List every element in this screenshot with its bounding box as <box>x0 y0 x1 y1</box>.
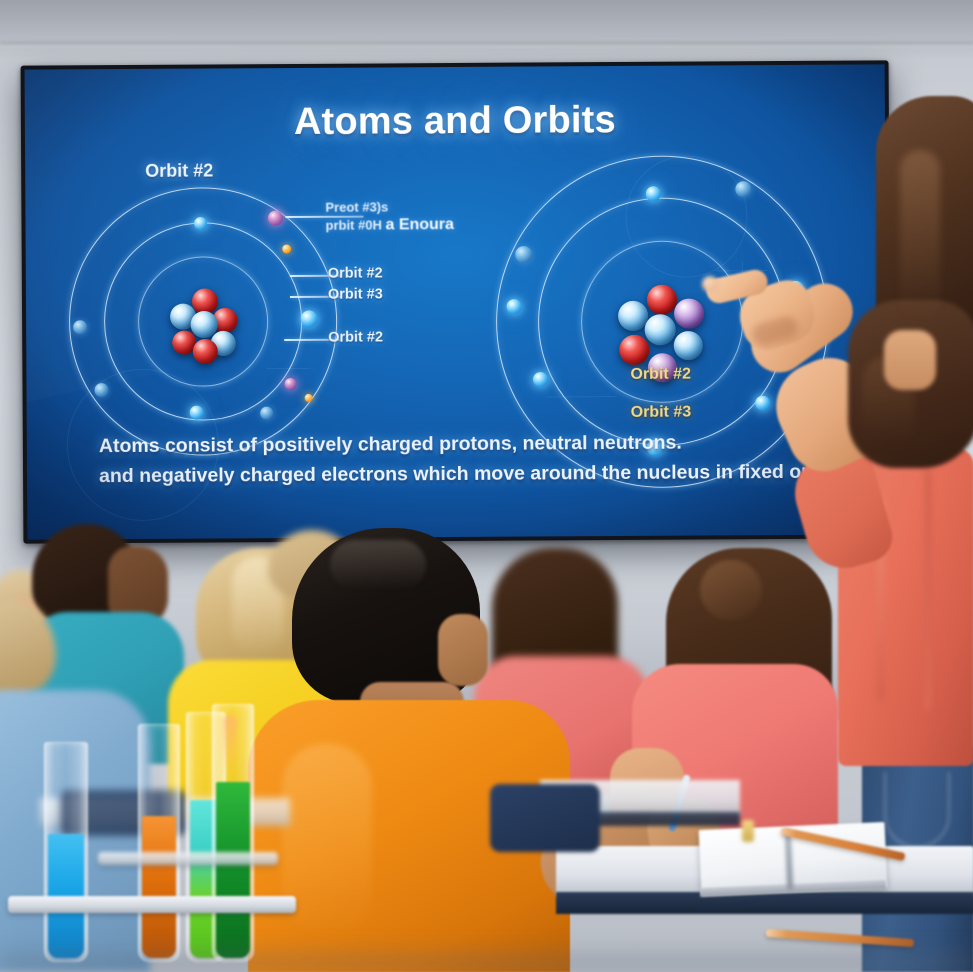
test-tube-green-reflection <box>223 715 237 773</box>
electron <box>284 378 296 390</box>
electron <box>735 181 751 197</box>
test-tube-blue[interactable] <box>44 742 88 962</box>
electron <box>515 246 532 263</box>
electron <box>94 383 108 397</box>
teacher-neck <box>884 330 936 390</box>
right-atom-label-orbit-2: Orbit #2 <box>630 366 691 384</box>
electron <box>73 320 87 334</box>
test-tube-green[interactable] <box>212 704 254 962</box>
wall-ceiling-shadow <box>0 0 973 60</box>
callout-label-orbit-2: Orbit #2 <box>328 265 383 281</box>
desk-front-right-edge <box>556 892 973 914</box>
chair-back <box>490 784 600 852</box>
electron <box>190 406 204 420</box>
student-orange-hair-highlight <box>330 540 426 590</box>
foreground-blur-overlay <box>0 940 973 972</box>
classroom-scene: Atoms and Orbits <box>0 0 973 972</box>
student-coral-curly-hair-highlight <box>700 560 762 620</box>
electron <box>268 211 283 226</box>
test-tube-orange-liquid <box>142 816 176 958</box>
slide-caption: Atoms consist of positively charged prot… <box>99 428 859 492</box>
test-tube-rack-top-bar <box>8 896 296 913</box>
teacher-jeans-pocket <box>884 772 950 848</box>
test-tube-rack-mid-bar <box>98 852 278 865</box>
left-atom-diagram <box>67 186 339 458</box>
callout-label-garbled: Preot #3)s prbit #0H a Enoura <box>325 199 454 235</box>
neutron <box>618 301 648 331</box>
wall-seam <box>0 42 973 47</box>
electron <box>282 245 291 254</box>
electron <box>194 217 207 230</box>
callout-garbled-line2: prbit #0H <box>325 217 381 232</box>
electron <box>755 396 770 411</box>
callout-label-orbit-2-lower: Orbit #2 <box>328 329 383 345</box>
right-atom-label-orbit-3: Orbit #3 <box>631 404 692 422</box>
student-orange-ear <box>438 614 488 686</box>
proton <box>619 335 649 365</box>
proton <box>193 339 218 364</box>
neutron <box>674 331 703 360</box>
callout-label-orbit-3: Orbit #3 <box>328 286 383 302</box>
electron <box>305 394 313 402</box>
callout-garbled-line1: Preot #3)s <box>325 199 454 216</box>
teacher-hair-highlight <box>900 150 940 320</box>
caption-line-2: and negatively charged electrons which m… <box>99 457 859 491</box>
left-atom-top-label: Orbit #2 <box>145 160 213 181</box>
caption-line-1: Atoms consist of positively charged prot… <box>99 428 859 462</box>
callout-garbled-emphasis: a Enoura <box>385 216 454 233</box>
teacher-fingertip <box>702 276 718 292</box>
test-tube-green-liquid <box>216 782 250 958</box>
pencil-eraser-ferrule <box>742 820 754 842</box>
electron <box>260 407 273 420</box>
electron <box>506 299 521 314</box>
electron <box>533 372 548 387</box>
proton <box>647 285 677 315</box>
slide-title: Atoms and Orbits <box>25 97 885 145</box>
neutron <box>645 314 676 345</box>
nucleon-highlighted <box>674 298 704 328</box>
electron <box>301 310 318 327</box>
electron <box>646 186 661 201</box>
teacher-shirt-fold <box>926 470 930 710</box>
test-tube-orange[interactable] <box>138 724 180 962</box>
